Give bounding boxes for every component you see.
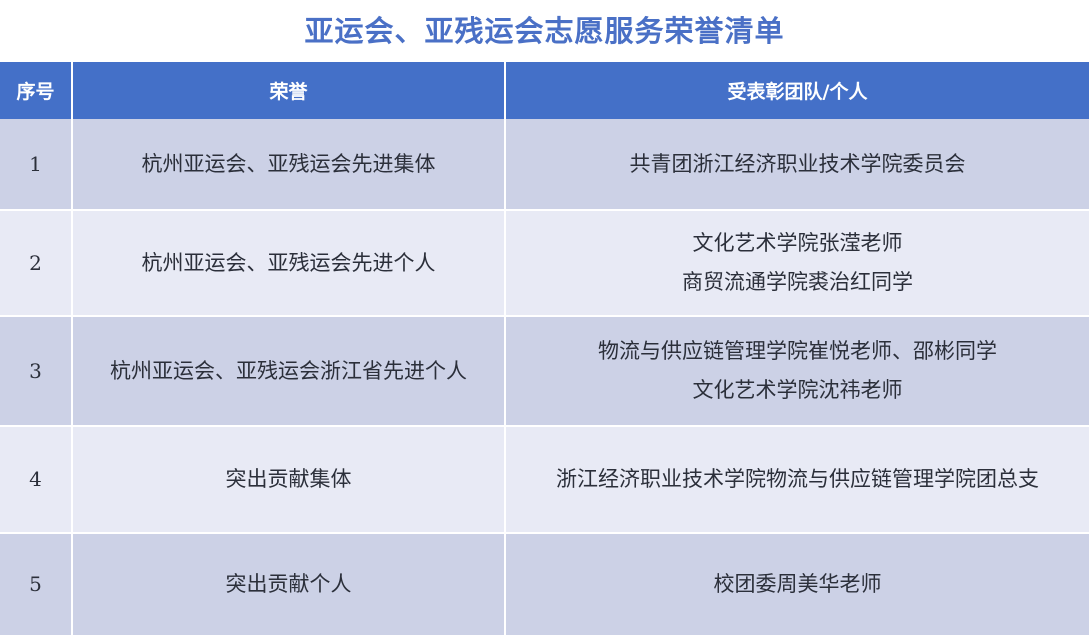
- cell-honor: 突出贡献个人: [73, 534, 506, 637]
- table-row: 5 突出贡献个人 校团委周美华老师: [0, 534, 1089, 637]
- recipient-line: 商贸流通学院裘治红同学: [512, 263, 1083, 302]
- table-body: 1 杭州亚运会、亚残运会先进集体 共青团浙江经济职业技术学院委员会 2 杭州亚运…: [0, 119, 1089, 637]
- recipient-line: 浙江经济职业技术学院物流与供应链管理学院团总支: [512, 460, 1083, 499]
- table-row: 2 杭州亚运会、亚残运会先进个人 文化艺术学院张滢老师 商贸流通学院裘治红同学: [0, 211, 1089, 317]
- cell-no: 1: [0, 119, 73, 211]
- column-header-no: 序号: [0, 62, 73, 119]
- honor-list-page: 亚运会、亚残运会志愿服务荣誉清单 序号 荣誉 受表彰团队/个人 1 杭州亚运会、…: [0, 0, 1089, 637]
- column-header-honor: 荣誉: [73, 62, 506, 119]
- cell-no: 5: [0, 534, 73, 637]
- recipient-line: 文化艺术学院张滢老师: [512, 224, 1083, 263]
- table-header-row: 序号 荣誉 受表彰团队/个人: [0, 62, 1089, 119]
- table-row: 3 杭州亚运会、亚残运会浙江省先进个人 物流与供应链管理学院崔悦老师、邵彬同学 …: [0, 317, 1089, 427]
- recipient-line: 共青团浙江经济职业技术学院委员会: [512, 145, 1083, 184]
- cell-honor: 杭州亚运会、亚残运会先进集体: [73, 119, 506, 211]
- cell-no: 2: [0, 211, 73, 317]
- cell-recipient: 物流与供应链管理学院崔悦老师、邵彬同学 文化艺术学院沈祎老师: [506, 317, 1089, 427]
- recipient-line: 物流与供应链管理学院崔悦老师、邵彬同学: [512, 332, 1083, 371]
- table-header: 序号 荣誉 受表彰团队/个人: [0, 62, 1089, 119]
- cell-no: 3: [0, 317, 73, 427]
- cell-recipient: 浙江经济职业技术学院物流与供应链管理学院团总支: [506, 427, 1089, 534]
- honor-list-table: 序号 荣誉 受表彰团队/个人 1 杭州亚运会、亚残运会先进集体 共青团浙江经济职…: [0, 62, 1089, 637]
- recipient-line: 文化艺术学院沈祎老师: [512, 371, 1083, 410]
- cell-no: 4: [0, 427, 73, 534]
- cell-honor: 杭州亚运会、亚残运会浙江省先进个人: [73, 317, 506, 427]
- cell-recipient: 文化艺术学院张滢老师 商贸流通学院裘治红同学: [506, 211, 1089, 317]
- cell-honor: 杭州亚运会、亚残运会先进个人: [73, 211, 506, 317]
- cell-recipient: 共青团浙江经济职业技术学院委员会: [506, 119, 1089, 211]
- cell-honor: 突出贡献集体: [73, 427, 506, 534]
- cell-recipient: 校团委周美华老师: [506, 534, 1089, 637]
- page-title: 亚运会、亚残运会志愿服务荣誉清单: [0, 0, 1089, 62]
- recipient-line: 校团委周美华老师: [512, 565, 1083, 604]
- column-header-recipient: 受表彰团队/个人: [506, 62, 1089, 119]
- table-row: 4 突出贡献集体 浙江经济职业技术学院物流与供应链管理学院团总支: [0, 427, 1089, 534]
- table-row: 1 杭州亚运会、亚残运会先进集体 共青团浙江经济职业技术学院委员会: [0, 119, 1089, 211]
